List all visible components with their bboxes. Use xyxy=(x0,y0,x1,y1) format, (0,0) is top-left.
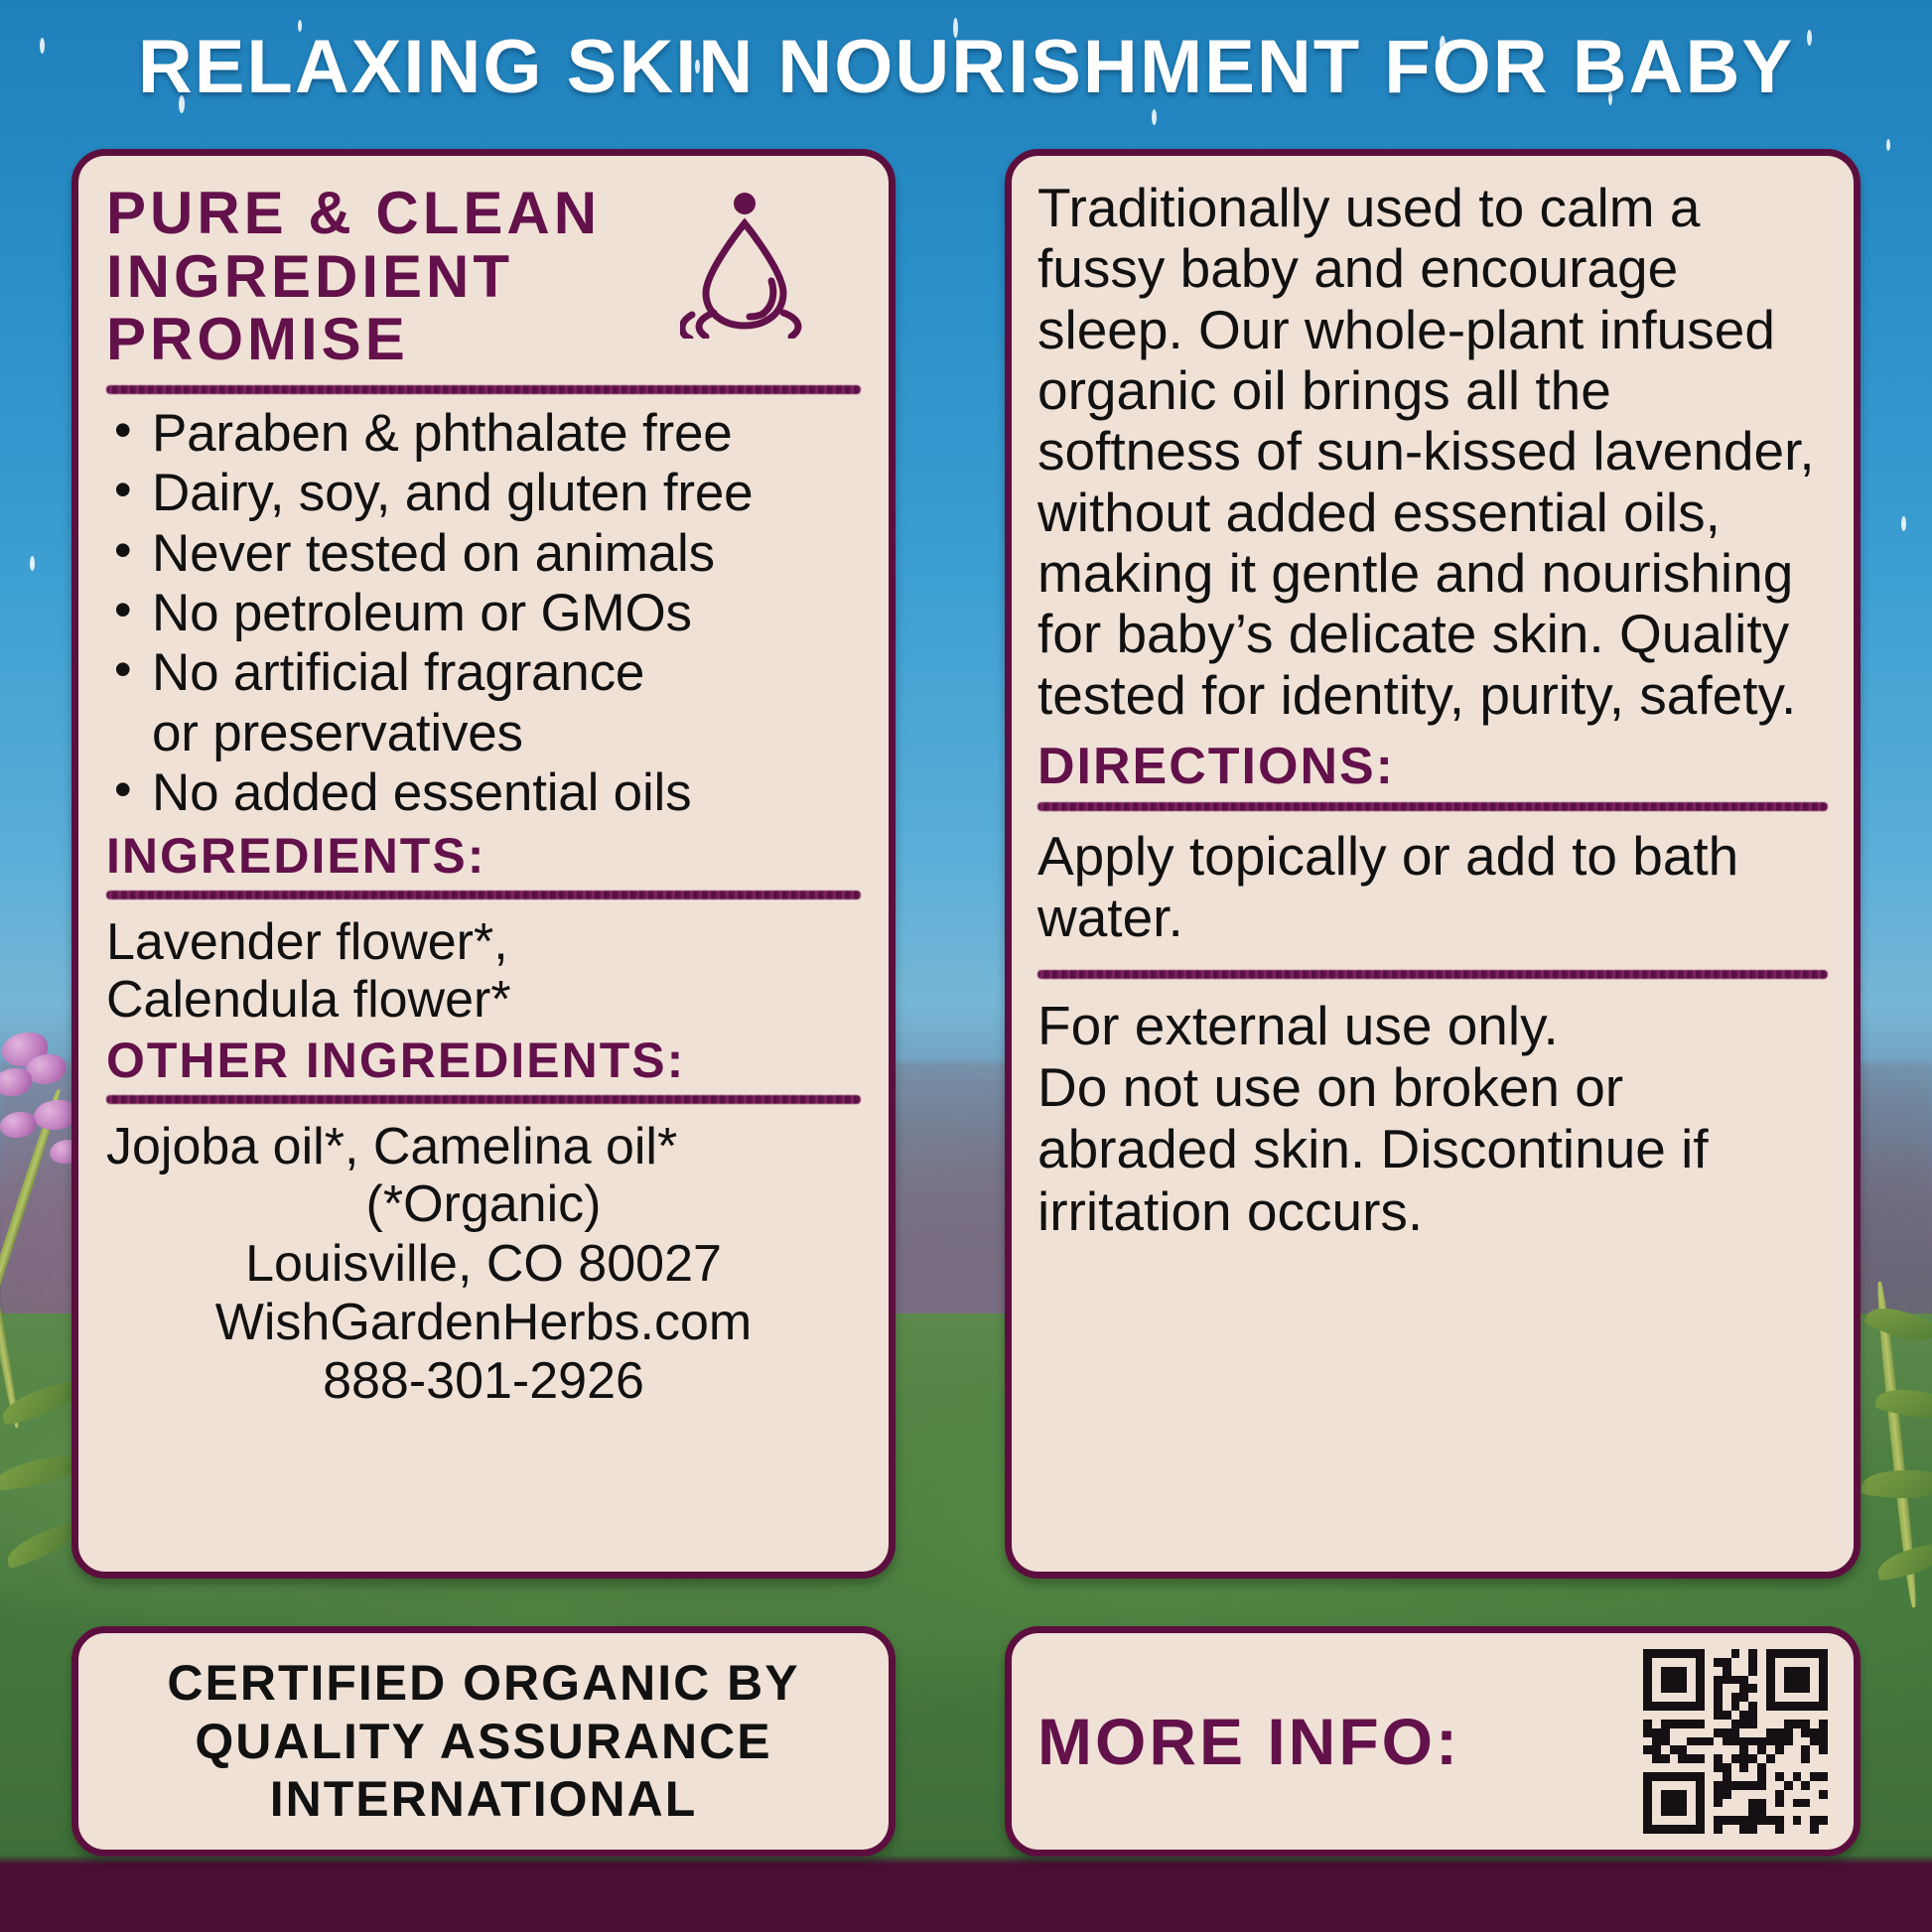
description-directions-panel: Traditionally used to calm a fussy baby … xyxy=(1005,149,1861,1579)
product-description: Traditionally used to calm a fussy baby … xyxy=(1037,178,1828,726)
divider-rule xyxy=(106,385,861,394)
list-item: Dairy, soy, and gluten free xyxy=(106,464,861,523)
other-ingredients-heading: OTHER INGREDIENTS: xyxy=(106,1035,861,1087)
divider-rule xyxy=(1037,802,1828,811)
divider-rule xyxy=(1037,970,1828,979)
list-item: Paraben & phthalate free xyxy=(106,404,861,464)
sky-fleck xyxy=(1152,109,1157,125)
certification-text: CERTIFIED ORGANIC BY QUALITY ASSURANCE I… xyxy=(167,1654,799,1829)
list-item: No petroleum or GMOs xyxy=(106,584,861,643)
company-website[interactable]: WishGardenHerbs.com xyxy=(106,1294,861,1352)
organic-note: (*Organic) xyxy=(106,1175,861,1234)
divider-rule xyxy=(106,1095,861,1104)
sky-fleck xyxy=(1886,139,1890,151)
directions-heading: DIRECTIONS: xyxy=(1037,740,1828,794)
list-item: No added essential oils xyxy=(106,763,861,823)
page-title: RELAXING SKIN NOURISHMENT FOR BABY xyxy=(0,24,1932,110)
qr-code-icon[interactable] xyxy=(1643,1649,1828,1834)
warning-text: For external use only. Do not use on bro… xyxy=(1037,995,1828,1242)
ingredients-text: Lavender flower*, Calendula flower* xyxy=(106,913,861,1029)
pure-clean-promise-panel: PURE & CLEAN INGREDIENT PROMISE Paraben … xyxy=(71,149,896,1579)
ingredients-heading: INGREDIENTS: xyxy=(106,830,861,883)
certification-box: CERTIFIED ORGANIC BY QUALITY ASSURANCE I… xyxy=(71,1626,896,1857)
list-item: No artificial fragrance or preservatives xyxy=(106,643,861,763)
promise-header-row: PURE & CLEAN INGREDIENT PROMISE xyxy=(106,182,861,371)
other-ingredients-text: Jojoba oil*, Camelina oil* xyxy=(106,1118,861,1175)
company-address: Louisville, CO 80027 xyxy=(106,1235,861,1294)
more-info-label: MORE INFO: xyxy=(1037,1704,1460,1779)
sky-fleck xyxy=(1901,516,1906,531)
more-info-box: MORE INFO: xyxy=(1005,1626,1861,1857)
divider-rule xyxy=(106,891,861,899)
list-item: Never tested on animals xyxy=(106,524,861,584)
claims-list: Paraben & phthalate free Dairy, soy, and… xyxy=(106,404,861,824)
company-phone[interactable]: 888-301-2926 xyxy=(106,1352,861,1411)
sky-fleck xyxy=(30,556,35,571)
promise-heading: PURE & CLEAN INGREDIENT PROMISE xyxy=(106,182,601,371)
directions-text: Apply topically or add to bath water. xyxy=(1037,825,1828,948)
water-droplet-ripple-icon xyxy=(680,190,809,344)
